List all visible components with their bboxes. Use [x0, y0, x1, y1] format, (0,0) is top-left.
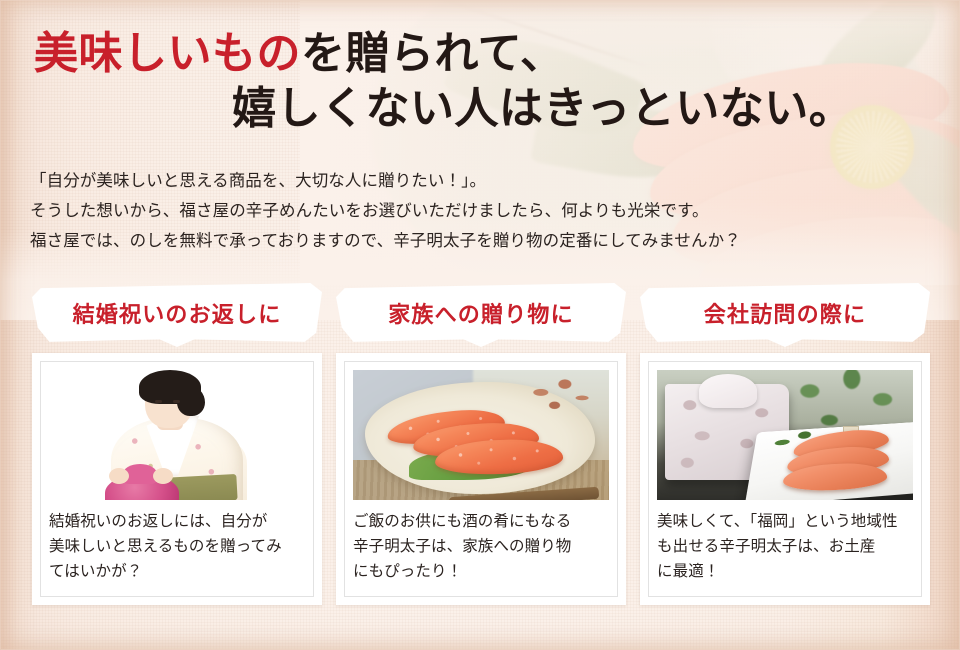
- mentaiko-plate-illustration: [353, 370, 609, 500]
- card-panel-inner: ご飯のお供にも酒の肴にもなる 辛子明太子は、家族への贈り物 にもぴったり！: [344, 361, 618, 597]
- speech-bubble-label: 家族への贈り物に: [388, 297, 574, 329]
- wrapping-knot: [699, 374, 757, 408]
- lead-line-2: そうした想いから、福さ屋の辛子めんたいをお選びいただけましたら、何よりも光栄です…: [30, 196, 741, 226]
- hair-bun-shape: [177, 386, 205, 416]
- card-panel: 結婚祝いのお返しには、自分が 美味しいと思えるものを贈ってみ てはいかが？: [32, 353, 322, 605]
- promo-banner: 美味しいものを贈られて、 嬉しくない人はきっといない。 「自分が美味しいと思える…: [0, 0, 960, 650]
- card-panel-inner: 結婚祝いのお返しには、自分が 美味しいと思えるものを贈ってみ てはいかが？: [40, 361, 314, 597]
- lead-paragraph: 「自分が美味しいと思える商品を、大切な人に贈りたい！」。 そうした想いから、福さ…: [30, 166, 741, 256]
- hand-shape: [153, 468, 173, 484]
- lead-line-1: 「自分が美味しいと思える商品を、大切な人に贈りたい！」。: [30, 166, 741, 196]
- card-caption-line: てはいかが？: [49, 559, 305, 584]
- card-caption-line: 結婚祝いのお返しには、自分が: [49, 509, 305, 534]
- card-caption-line: も出せる辛子明太子は、お土産: [657, 534, 913, 559]
- headline-line-1-rest: を贈られて、: [301, 29, 564, 78]
- eye-shape: [155, 400, 162, 403]
- speech-bubble-label: 会社訪問の際に: [704, 297, 866, 329]
- card-caption-line: 美味しいと思えるものを贈ってみ: [49, 534, 305, 559]
- card-caption-line: にもぴったり！: [353, 559, 609, 584]
- card-caption-line: 辛子明太子は、家族への贈り物: [353, 534, 609, 559]
- autumn-leaves-garnish: [515, 374, 601, 420]
- card-panel: ご飯のお供にも酒の肴にもなる 辛子明太子は、家族への贈り物 にもぴったり！: [336, 353, 626, 605]
- card-thumbnail: [49, 370, 305, 500]
- headline-line-1: 美味しいものを贈られて、: [0, 26, 920, 81]
- card-caption: 美味しくて、「福岡」という地域性 も出せる辛子明太子は、お土産 に最適！: [657, 509, 913, 584]
- card-caption-line: 美味しくて、「福岡」という地域性: [657, 509, 913, 534]
- headline-highlight: 美味しいもの: [34, 29, 301, 78]
- usecase-card: 家族への贈り物に: [336, 283, 626, 605]
- headline-line-2: 嬉しくない人はきっといない。: [0, 81, 920, 136]
- gift-package-illustration: [657, 370, 913, 500]
- card-caption-line: に最適！: [657, 559, 913, 584]
- usecase-card: 結婚祝いのお返しに: [32, 283, 322, 605]
- speech-bubble: 家族への贈り物に: [336, 283, 626, 347]
- speech-bubble-label: 結婚祝いのお返しに: [73, 297, 282, 329]
- kimono-woman-illustration: [49, 370, 305, 500]
- card-caption: ご飯のお供にも酒の肴にもなる 辛子明太子は、家族への贈り物 にもぴったり！: [353, 509, 609, 584]
- card-thumbnail: [353, 370, 609, 500]
- card-panel-inner: 美味しくて、「福岡」という地域性 も出せる辛子明太子は、お土産 に最適！: [648, 361, 922, 597]
- speech-bubble: 会社訪問の際に: [640, 283, 930, 347]
- card-panel: 美味しくて、「福岡」という地域性 も出せる辛子明太子は、お土産 に最適！: [640, 353, 930, 605]
- card-caption-line: ご飯のお供にも酒の肴にもなる: [353, 509, 609, 534]
- usecase-card-list: 結婚祝いのお返しに: [32, 283, 932, 605]
- card-thumbnail: [657, 370, 913, 500]
- headline: 美味しいものを贈られて、 嬉しくない人はきっといない。: [0, 26, 920, 137]
- usecase-card: 会社訪問の際に: [640, 283, 930, 605]
- lead-line-3: 福さ屋では、のしを無料で承っておりますので、辛子明太子を贈り物の定番にしてみませ…: [30, 226, 741, 256]
- hand-shape: [109, 468, 129, 484]
- eye-shape: [173, 400, 180, 403]
- speech-bubble: 結婚祝いのお返しに: [32, 283, 322, 347]
- card-caption: 結婚祝いのお返しには、自分が 美味しいと思えるものを贈ってみ てはいかが？: [49, 509, 305, 584]
